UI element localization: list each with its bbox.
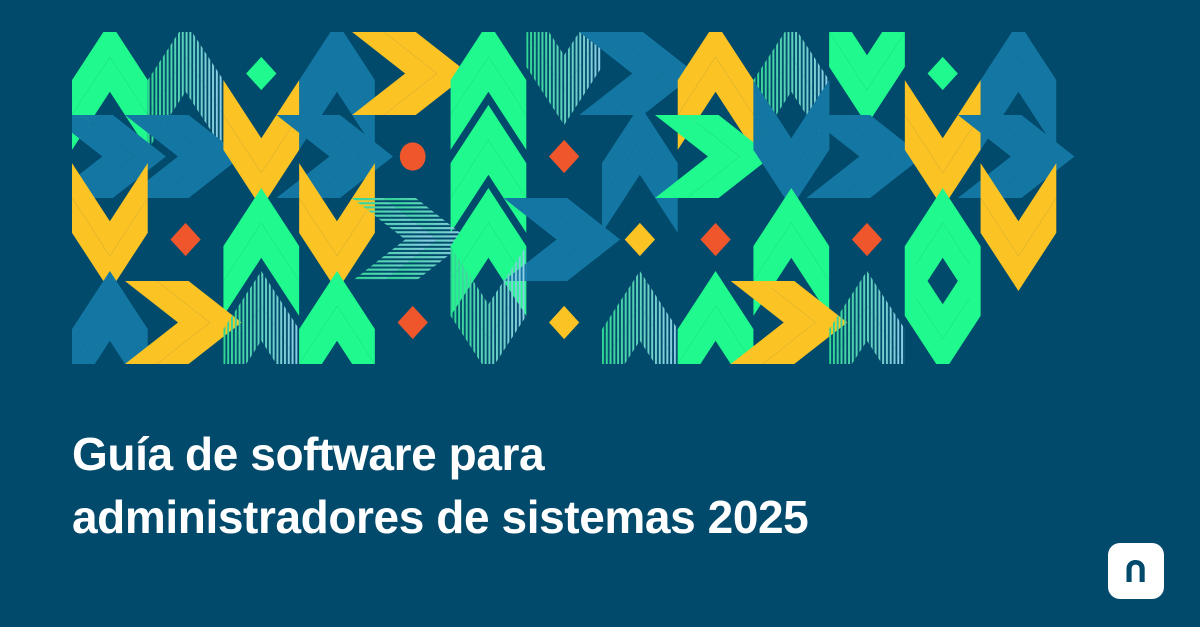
pattern-diamond	[170, 223, 200, 256]
pattern-diamond	[549, 306, 579, 339]
social-card: Guía de software para administradores de…	[0, 0, 1200, 627]
page-title: Guía de software para administradores de…	[72, 423, 1002, 549]
pattern-circle	[400, 142, 426, 170]
pattern-diamond	[398, 306, 428, 339]
pattern-svg	[72, 32, 1132, 364]
title-line-1: Guía de software para	[72, 423, 1002, 486]
ninjaone-logo	[1108, 543, 1164, 599]
pattern-diamond	[549, 140, 579, 173]
title-line-2: administradores de sistemas 2025	[72, 486, 1002, 549]
pattern-diamond	[246, 57, 276, 90]
pattern-diamond	[700, 223, 730, 256]
pattern-diamond	[852, 223, 882, 256]
pattern-diamond	[625, 223, 655, 256]
logo-letter-n-icon	[1118, 553, 1154, 589]
decorative-pattern-band	[72, 32, 1132, 364]
pattern-diamond	[928, 57, 958, 90]
